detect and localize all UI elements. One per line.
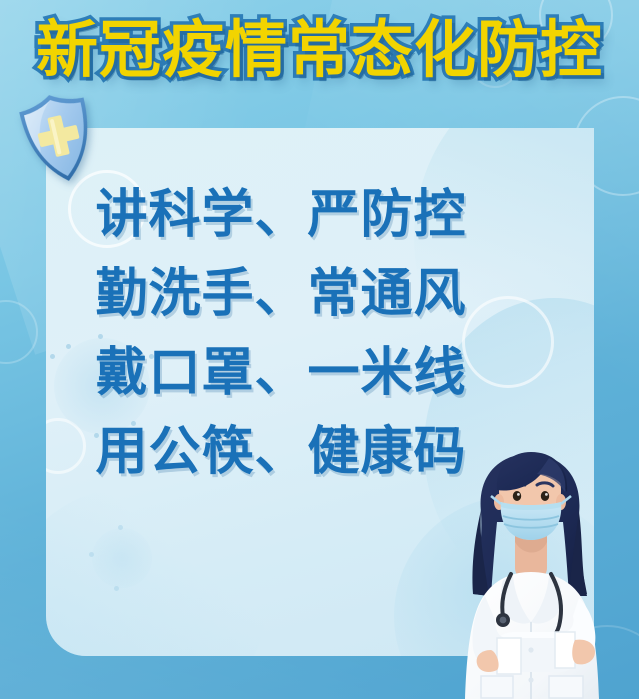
- panel-wave-shape: [424, 298, 594, 598]
- decorative-bubble: [46, 418, 86, 474]
- decorative-bubble: [539, 0, 613, 52]
- panel-wave-shape: [46, 486, 266, 656]
- panel-wave-shape: [414, 128, 594, 408]
- poster-root: 新冠疫情常态化防控 讲科学、严防控 勤洗手、常通风 戴口罩、一米线 用: [0, 0, 639, 699]
- shield-with-cross-icon: [13, 85, 106, 191]
- poster-title-container: 新冠疫情常态化防控: [0, 18, 639, 85]
- content-panel: [46, 128, 594, 656]
- virus-particle-icon: [92, 528, 152, 588]
- virus-particle-icon: [54, 338, 150, 434]
- decorative-bubble: [68, 170, 146, 248]
- decorative-bubble: [462, 296, 554, 388]
- decorative-bubble: [471, 40, 519, 88]
- panel-wave-shape: [394, 496, 594, 656]
- poster-title: 新冠疫情常态化防控: [36, 18, 603, 85]
- decorative-bubble: [0, 300, 38, 364]
